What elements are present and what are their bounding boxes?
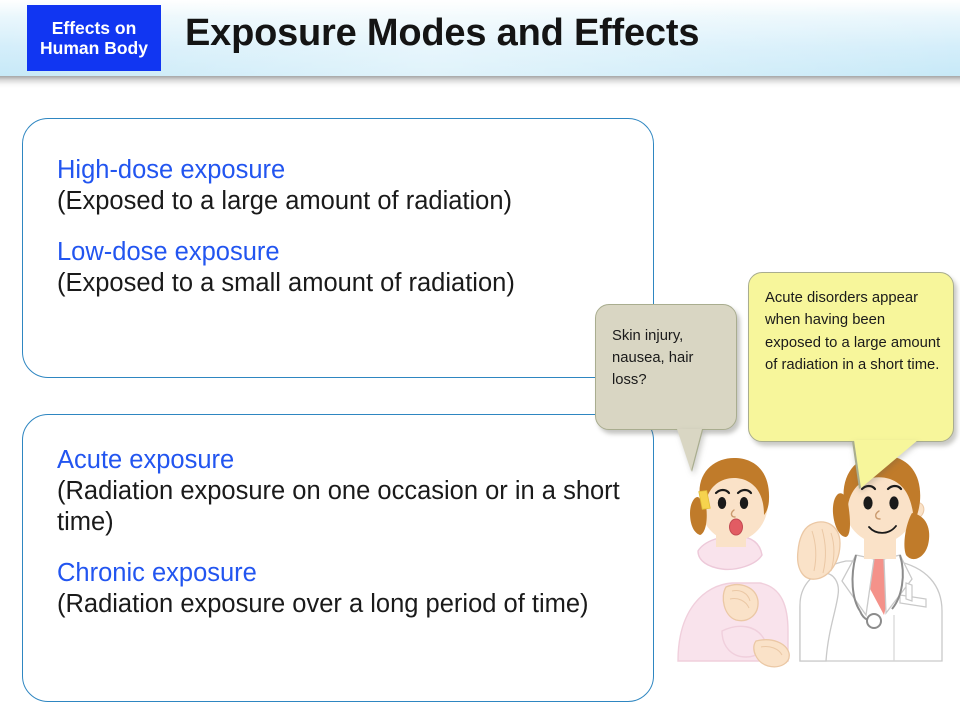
doctor-answer-text: Acute disorders appear when having been … [765,287,941,377]
spacer [57,217,623,237]
term-chronic-exposure: Chronic exposure [57,558,623,589]
term-high-dose-exposure: High-dose exposure [57,155,623,186]
badge-line-2: Human Body [40,38,148,58]
patient-question-text: Skin injury, nausea, hair loss? [612,325,726,392]
patient-woman-figure [678,458,789,667]
term-low-dose-exposure: Low-dose exposure [57,237,623,268]
term-acute-exposure: Acute exposure [57,445,623,476]
section-badge: Effects on Human Body [27,5,161,71]
bubble-tail [677,429,702,471]
badge-line-1: Effects on [52,18,137,38]
description-high-dose-exposure: (Exposed to a large amount of radiation) [57,186,623,217]
exposure-dose-box-content: High-dose exposure (Exposed to a large a… [23,119,653,299]
spacer [57,538,623,558]
header-shadow [0,76,960,88]
description-acute-exposure: (Radiation exposure on one occasion or i… [57,476,623,538]
exposure-dose-box: High-dose exposure (Exposed to a large a… [22,118,654,378]
doctor-answer-bubble: Acute disorders appear when having been … [748,272,954,442]
description-chronic-exposure: (Radiation exposure over a long period o… [57,589,623,620]
two-women-conversation-illustration [660,455,960,720]
exposure-duration-box: Acute exposure (Radiation exposure on on… [22,414,654,702]
description-low-dose-exposure: (Exposed to a small amount of radiation) [57,268,623,299]
bubble-tail [854,440,918,488]
exposure-duration-box-content: Acute exposure (Radiation exposure on on… [23,415,653,621]
patient-question-bubble: Skin injury, nausea, hair loss? [595,304,737,430]
page-title: Exposure Modes and Effects [185,12,699,55]
